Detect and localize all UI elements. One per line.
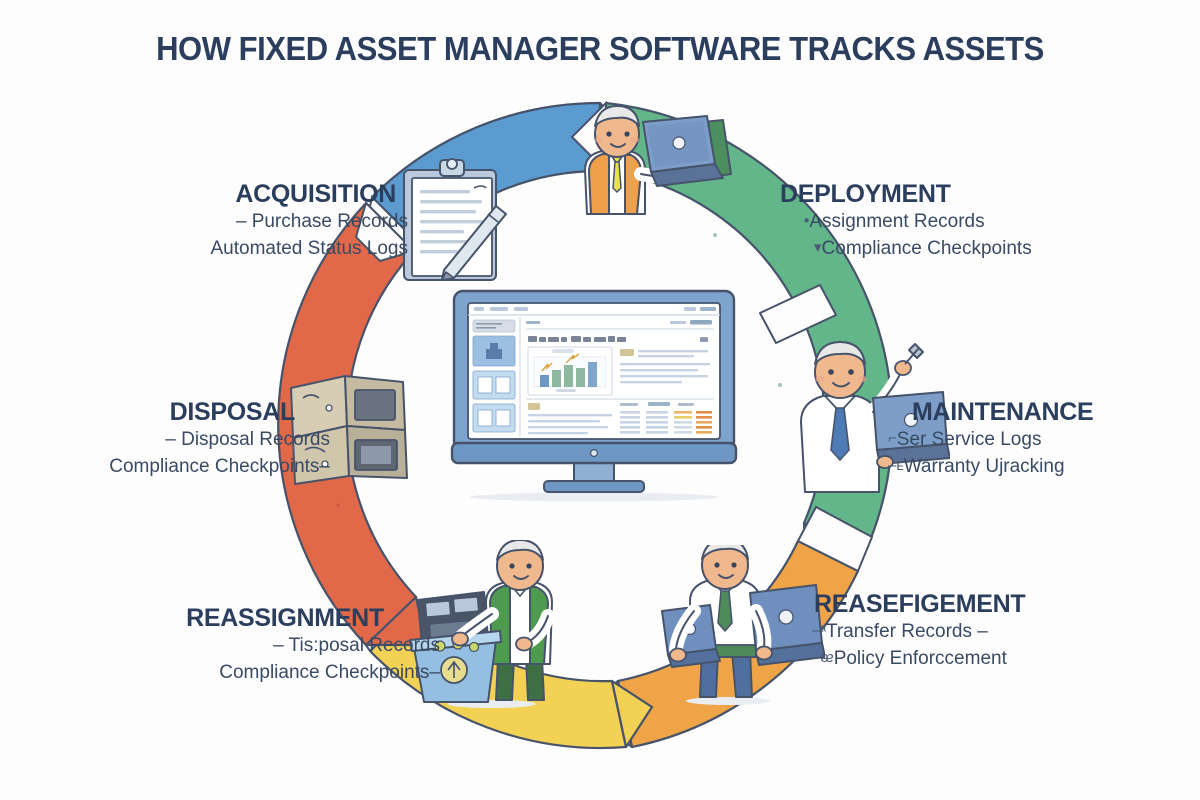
stage-heading-deployment: DEPLOYMENT — [780, 180, 1080, 209]
stage-heading-reassignment-right: REASEFIGEMENT — [814, 590, 1112, 619]
stage-label-maintenance[interactable]: MAINTENANCE ⌐Ser Service Logs –ᴇWarranty… — [888, 398, 1188, 481]
dash-marker: ▾ — [814, 239, 822, 256]
page-title: HOW FIXED ASSET MANAGER SOFTWARE TRACKS … — [36, 30, 1164, 68]
worker-with-two-laptops-illustration — [640, 545, 825, 705]
stage-detail-deployment-1: ▪Assignment Records — [804, 209, 1080, 236]
stage-detail-disposal-1: – Disposal Records — [40, 427, 330, 454]
stage-detail-acquisition-2: Automated Status Logs — [118, 236, 408, 263]
stage-label-reassignment-right[interactable]: REASEFIGEMENT –ᵃTransfer Records – –ᴂPol… — [812, 590, 1112, 673]
stage-detail-reassignment-left-1: – Tis:posal Records — [140, 633, 440, 660]
center-monitor-illustration — [448, 283, 740, 503]
stage-heading-acquisition: ACQUISITION — [118, 180, 408, 209]
dash-marker: ⌐ — [888, 430, 897, 447]
stage-detail-maintenance-2: –ᴇWarranty Ujracking — [888, 454, 1188, 481]
stage-detail-reassignment-left-2: Compliance Checkpoints– — [140, 660, 440, 687]
stage-label-acquisition[interactable]: ACQUISITION – Purchase Records Automated… — [118, 180, 408, 263]
stage-detail-deployment-2: ▾Compliance Checkpoints — [814, 236, 1080, 263]
dash-marker: –ᴂ — [812, 649, 834, 666]
stage-label-disposal[interactable]: DISPOSAL – Disposal Records Compliance C… — [40, 398, 330, 481]
dash-marker: –ᵃ — [812, 622, 826, 639]
stage-label-reassignment-left[interactable]: REASSIGNMENT – Tis:posal Records Complia… — [140, 604, 440, 687]
stage-detail-acquisition-1: – Purchase Records — [118, 209, 408, 236]
dash-marker: –ᴇ — [888, 457, 904, 474]
stage-heading-maintenance: MAINTENANCE — [912, 398, 1188, 427]
stage-detail-maintenance-1: ⌐Ser Service Logs — [888, 427, 1188, 454]
stage-detail-disposal-2: Compliance Checkpoints– — [40, 454, 330, 481]
stage-heading-reassignment-left: REASSIGNMENT — [140, 604, 440, 633]
infographic-canvas: HOW FIXED ASSET MANAGER SOFTWARE TRACKS … — [0, 0, 1200, 800]
worker-with-laptop-top-illustration — [545, 96, 735, 221]
stage-heading-disposal: DISPOSAL — [40, 398, 330, 427]
clipboard-with-pen-icon — [392, 152, 512, 287]
stage-detail-reassignment-right-1: –ᵃTransfer Records – — [812, 619, 1112, 646]
stage-detail-reassignment-right-2: –ᴂPolicy Enforccement — [812, 646, 1112, 673]
stage-label-deployment[interactable]: DEPLOYMENT ▪Assignment Records ▾Complian… — [780, 180, 1080, 263]
